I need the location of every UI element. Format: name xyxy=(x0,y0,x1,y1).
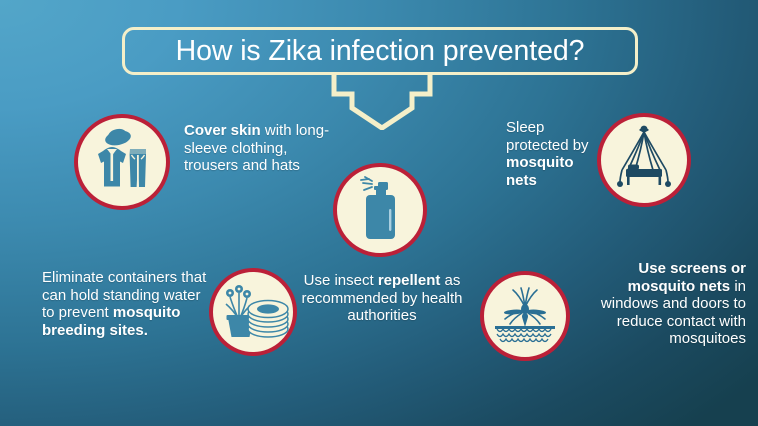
screens-text-a: Use screens or mosquito nets xyxy=(628,260,746,295)
sleep-nets-lead: Sleep protected by xyxy=(506,119,589,154)
spray-bottle-icon xyxy=(333,163,427,257)
eliminate-containers-text: Eliminate containers that can hold stand… xyxy=(42,269,214,339)
repellent-text-a: Use insect xyxy=(304,272,378,289)
cover-skin-text: Cover skin with long-sleeve clothing, tr… xyxy=(184,122,334,175)
clothing-hat-icon xyxy=(74,114,170,210)
sleep-nets-text: Sleep protected by mosquito nets xyxy=(506,119,602,189)
page-title: How is Zika infection prevented? xyxy=(176,37,585,66)
cover-skin-lead: Cover skin xyxy=(184,122,261,139)
title-banner: How is Zika infection prevented? xyxy=(122,27,638,75)
insect-repellent-text: Use insect repellent as recommended by h… xyxy=(296,272,468,325)
screens-windows-text: Use screens or mosquito nets in windows … xyxy=(568,260,746,348)
sleep-nets-bold: mosquito nets xyxy=(506,154,574,189)
bed-mosquito-net-icon xyxy=(597,113,691,207)
mosquito-screen-icon xyxy=(480,271,570,361)
repellent-text-b: repellent xyxy=(378,272,441,289)
down-arrow-outline-icon xyxy=(330,72,434,130)
infographic-canvas: How is Zika infection prevented? xyxy=(0,0,758,426)
flowerpot-tires-icon xyxy=(209,268,297,356)
